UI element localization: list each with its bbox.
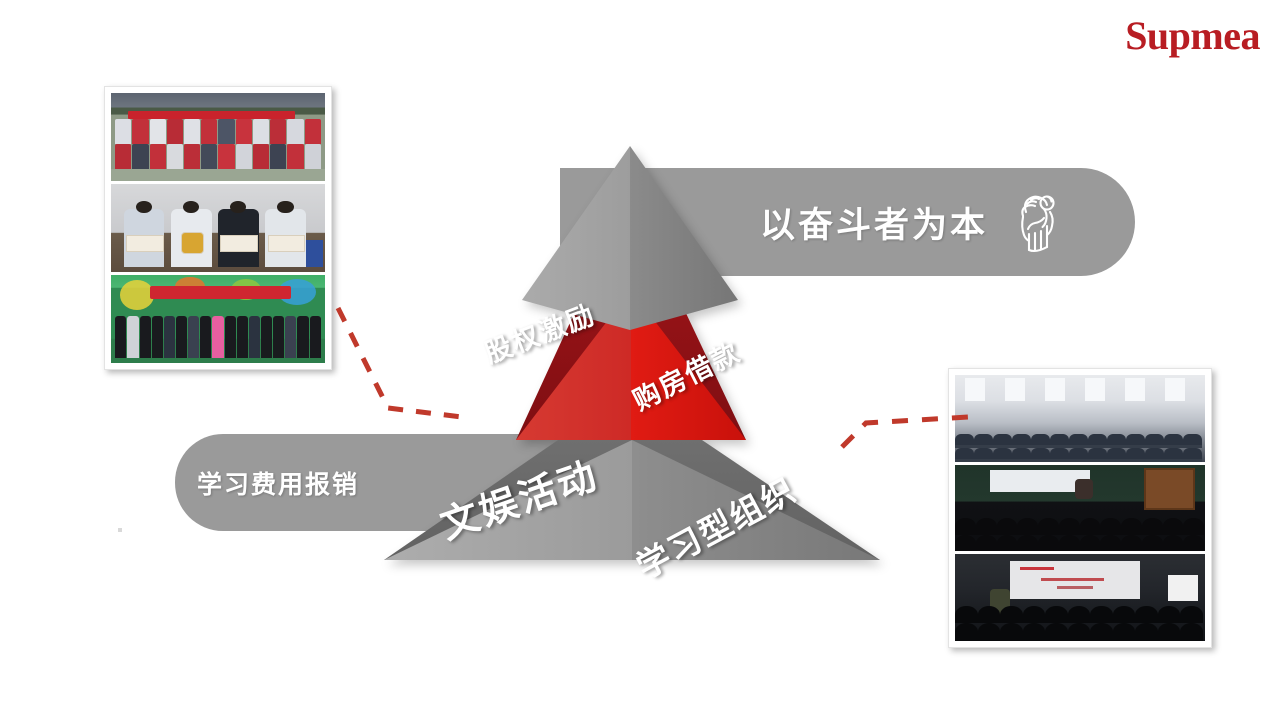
photo-whiteboard bbox=[1168, 575, 1198, 601]
photo-person bbox=[218, 209, 259, 267]
slide-canvas: Supmea bbox=[0, 0, 1280, 720]
photo-banner bbox=[128, 111, 295, 119]
raised-fist-icon bbox=[1014, 190, 1060, 254]
photo-audience bbox=[955, 408, 1205, 462]
decorative-speck bbox=[118, 528, 122, 532]
apex-left-face bbox=[522, 146, 630, 330]
photo-people-row bbox=[115, 144, 320, 170]
photo-person bbox=[171, 209, 212, 267]
photo-projection bbox=[1010, 561, 1140, 599]
photo-person bbox=[124, 209, 165, 267]
brand-logo-text: Supmea bbox=[1125, 16, 1260, 56]
dashed-connector-right bbox=[840, 395, 970, 455]
photo-door bbox=[1144, 468, 1196, 510]
classroom-training-photo bbox=[955, 375, 1205, 462]
banner-left-label: 学习费用报销 bbox=[197, 465, 359, 501]
training-session-photos bbox=[948, 368, 1212, 648]
award-ceremony-photo bbox=[111, 184, 325, 272]
sports-event-group-photo bbox=[111, 275, 325, 363]
photo-audience bbox=[955, 510, 1205, 552]
employee-activity-photos bbox=[104, 86, 332, 370]
lecture-hall-photo bbox=[955, 465, 1205, 552]
photo-people-row bbox=[115, 119, 320, 144]
photo-audience bbox=[955, 601, 1205, 641]
outdoor-team-group-photo bbox=[111, 93, 325, 181]
photo-person bbox=[265, 209, 306, 267]
photo-banner bbox=[150, 286, 291, 298]
brand-logo: Supmea bbox=[1070, 12, 1260, 60]
photo-speaker bbox=[1075, 479, 1093, 500]
apex-right-face bbox=[630, 146, 738, 330]
dashed-connector-left bbox=[330, 300, 480, 430]
photo-crowd bbox=[115, 316, 320, 358]
photo-ground bbox=[111, 169, 325, 181]
presentation-meeting-photo bbox=[955, 554, 1205, 641]
